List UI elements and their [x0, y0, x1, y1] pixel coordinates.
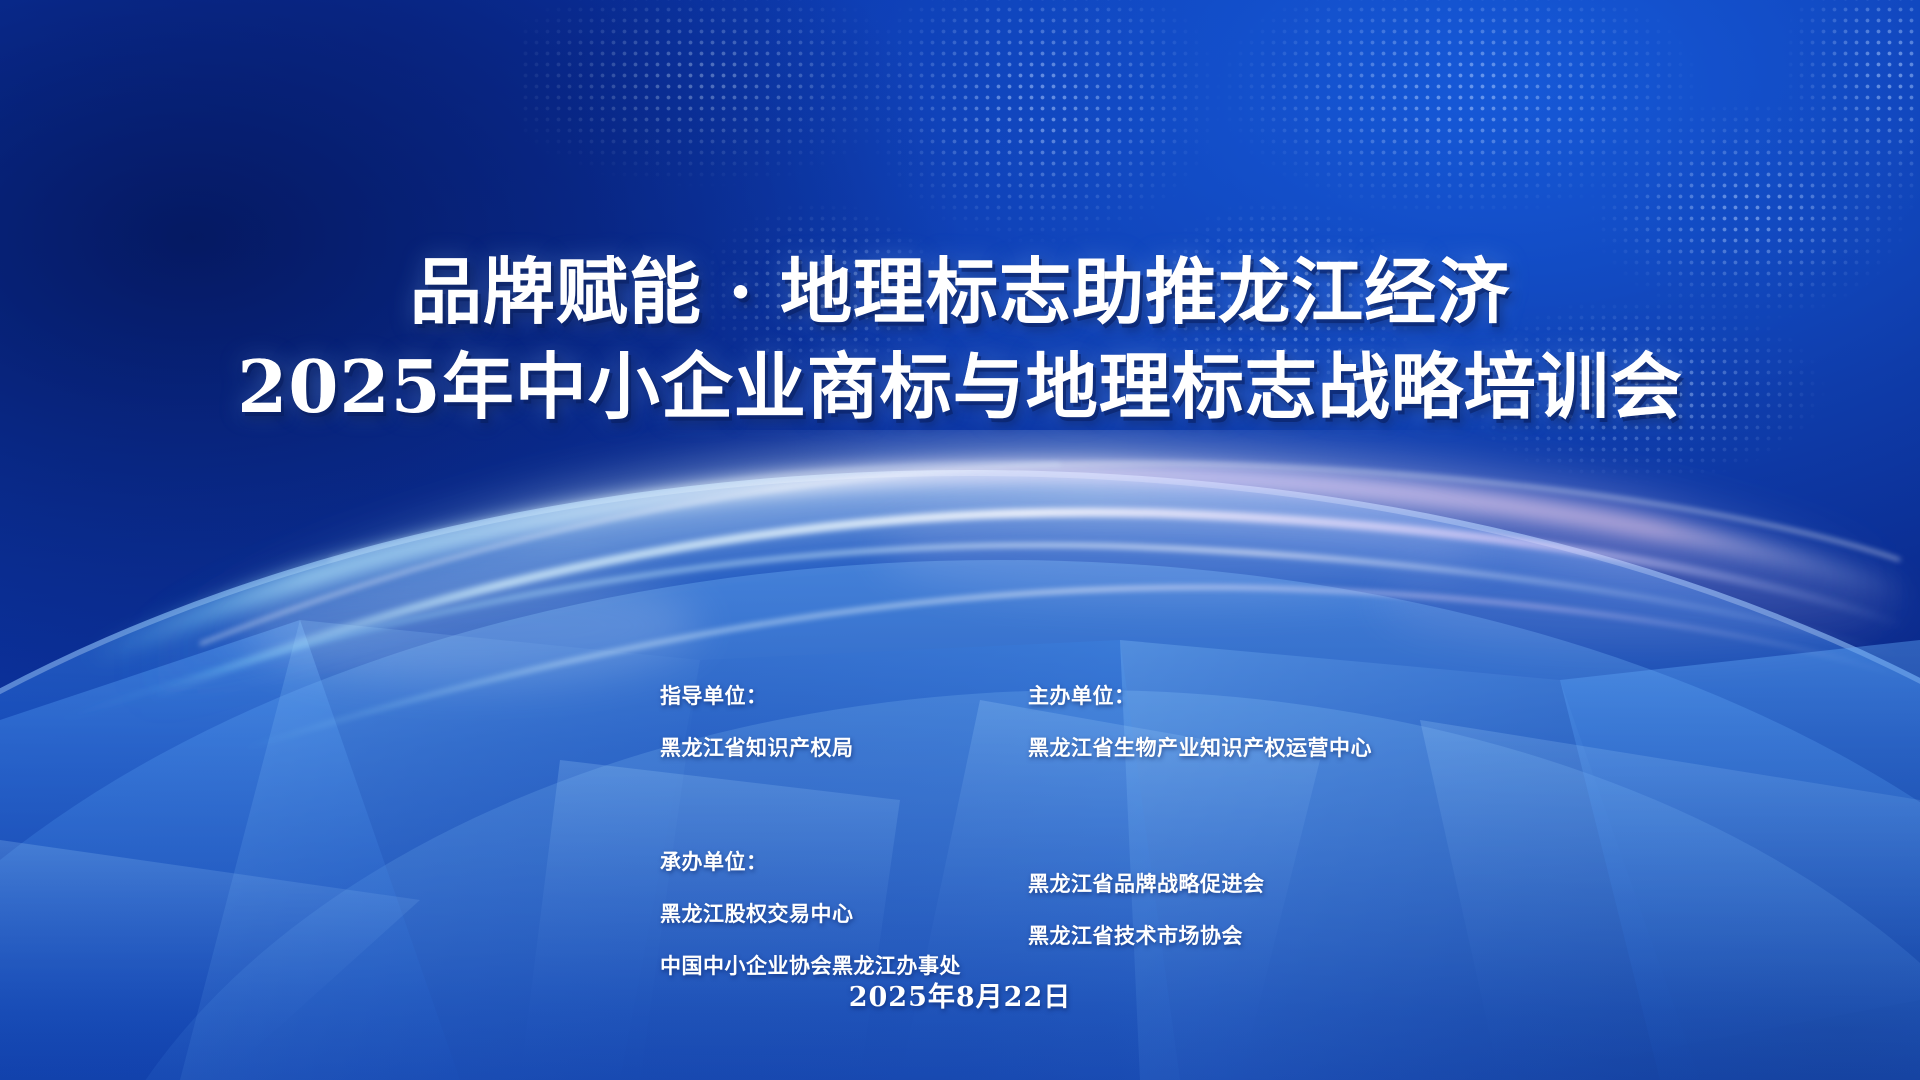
title-line-1: 品牌赋能 · 地理标志助推龙江经济 [0, 252, 1920, 333]
organizer-name-undertaker-3: 黑龙江省品牌战略促进会 [1028, 868, 1396, 898]
organizer-name-undertaker-4: 黑龙江省技术市场协会 [1028, 920, 1396, 950]
conference-banner: 品牌赋能 · 地理标志助推龙江经济 2025年中小企业商标与地理标志战略培训会 … [0, 0, 1920, 1080]
organizer-name-undertaker-1: 黑龙江股权交易中心 [660, 898, 1028, 928]
organizer-heading-host: 主办单位： [1028, 680, 1396, 710]
organizer-heading-undertaker: 承办单位： [660, 846, 1028, 876]
organizer-col-guidance: 指导单位： 黑龙江省知识产权局 [660, 680, 1028, 784]
organizer-heading-guidance: 指导单位： [660, 680, 1028, 710]
organizer-block: 指导单位： 黑龙江省知识产权局 主办单位： 黑龙江省生物产业知识产权运营中心 承… [660, 680, 1420, 1002]
event-date: 2025年8月22日 [849, 975, 1072, 1014]
title-block: 品牌赋能 · 地理标志助推龙江经济 2025年中小企业商标与地理标志战略培训会 [0, 252, 1920, 427]
organizer-name-host-1: 黑龙江省生物产业知识产权运营中心 [1028, 732, 1396, 762]
title-line-2: 2025年中小企业商标与地理标志战略培训会 [0, 347, 1920, 428]
organizer-col-host: 主办单位： 黑龙江省生物产业知识产权运营中心 [1028, 680, 1396, 784]
event-date-block: 2025年8月22日 [0, 975, 1920, 1014]
organizer-row-guidance: 指导单位： 黑龙江省知识产权局 主办单位： 黑龙江省生物产业知识产权运营中心 [660, 680, 1420, 784]
organizer-name-guidance-1: 黑龙江省知识产权局 [660, 732, 1028, 762]
